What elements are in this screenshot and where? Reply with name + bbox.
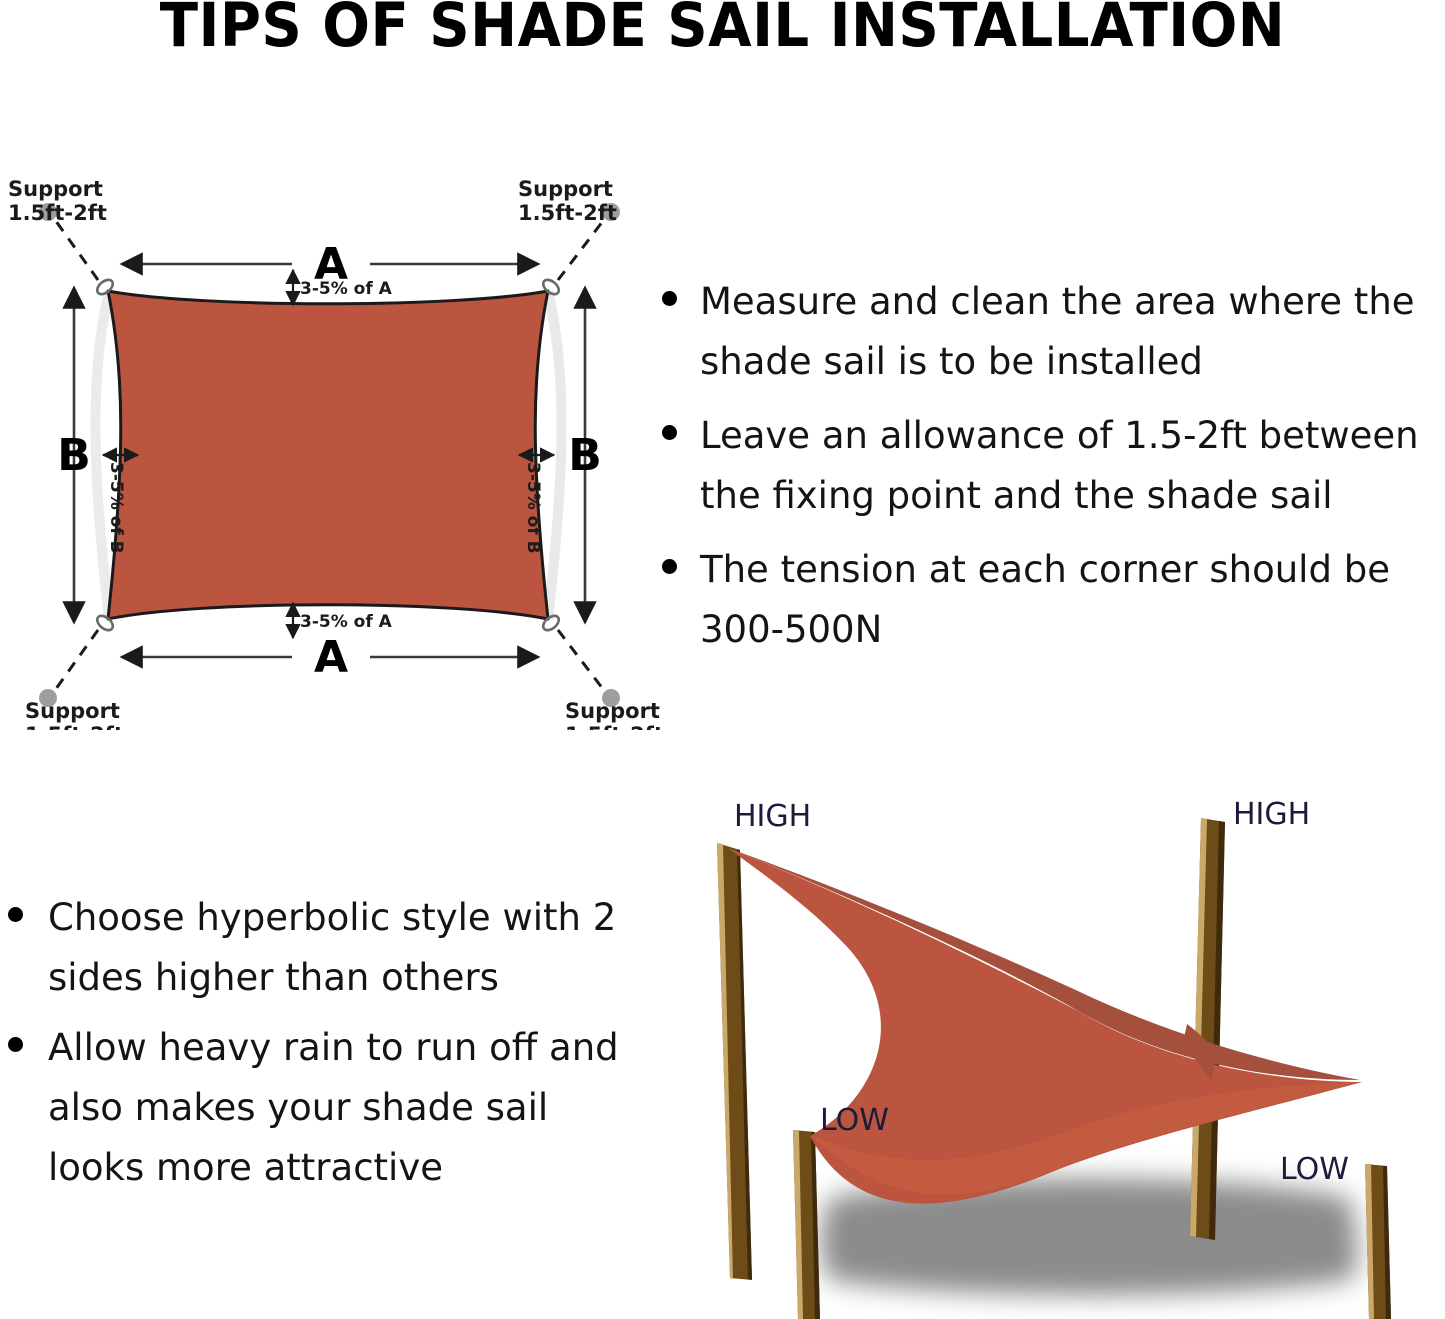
label-low-right: LOW bbox=[1280, 1152, 1349, 1187]
support-label-top-right: Support 1.5ft-2ft bbox=[518, 177, 617, 225]
support-tether bbox=[53, 217, 98, 280]
dimension-a-label: A bbox=[314, 632, 348, 683]
support-label-bottom-left: Support 1.5ft-2ft bbox=[25, 699, 124, 730]
support-label-line1: Support bbox=[25, 699, 120, 723]
support-label-line1: Support bbox=[8, 177, 103, 201]
list-item: The tension at each corner should be 300… bbox=[648, 540, 1445, 660]
list-item: Allow heavy rain to run off and also mak… bbox=[0, 1018, 625, 1198]
support-label-line2: 1.5ft-2ft bbox=[518, 201, 617, 225]
dimension-a-bottom: A bbox=[122, 632, 538, 683]
pole-low-left bbox=[793, 1130, 820, 1319]
label-low-left: LOW bbox=[820, 1103, 889, 1138]
sag-a-top-label: 3-5% of A bbox=[300, 279, 393, 299]
tips-list-right: Measure and clean the area where the sha… bbox=[648, 272, 1445, 674]
tip-text: Allow heavy rain to run off and also mak… bbox=[48, 1018, 625, 1198]
list-item: Leave an allowance of 1.5-2ft between th… bbox=[648, 406, 1445, 526]
list-item: Choose hyperbolic style with 2 sides hig… bbox=[0, 888, 625, 1008]
support-label-line2: 1.5ft-2ft bbox=[8, 201, 107, 225]
support-label-top-left: Support 1.5ft-2ft bbox=[8, 177, 107, 225]
sag-a-bottom-label: 3-5% of A bbox=[300, 612, 393, 632]
sag-b-right-label: 3-5% of B bbox=[523, 462, 543, 554]
pole-high-left bbox=[717, 843, 752, 1280]
label-high-left: HIGH bbox=[734, 799, 811, 834]
support-tether bbox=[558, 630, 606, 693]
support-label-line1: Support bbox=[518, 177, 613, 201]
sail-shape bbox=[108, 291, 548, 619]
pole-low-right bbox=[1365, 1164, 1391, 1319]
support-tether bbox=[53, 630, 98, 693]
tip-text: Choose hyperbolic style with 2 sides hig… bbox=[48, 888, 625, 1008]
tip-text: Measure and clean the area where the sha… bbox=[700, 272, 1445, 392]
support-label-line2: 1.5ft-2ft bbox=[565, 723, 660, 730]
support-tether bbox=[558, 217, 606, 280]
page-title: TIPS OF SHADE SAIL INSTALLATION bbox=[58, 0, 1387, 58]
rectangular-sail-diagram: A 3-5% of A A 3-5% of A B 3-5% of B bbox=[0, 160, 660, 730]
support-label-bottom-right: Support 1.5ft-2ft bbox=[565, 699, 660, 730]
dimension-b-label: B bbox=[568, 430, 602, 481]
tip-text: Leave an allowance of 1.5-2ft between th… bbox=[700, 406, 1445, 526]
dimension-b-label: B bbox=[57, 430, 91, 481]
tips-list-left: Choose hyperbolic style with 2 sides hig… bbox=[0, 888, 625, 1208]
sag-b-left-label: 3-5% of B bbox=[106, 462, 126, 554]
label-high-right: HIGH bbox=[1233, 797, 1310, 832]
tip-text: The tension at each corner should be 300… bbox=[700, 540, 1445, 660]
support-label-line2: 1.5ft-2ft bbox=[25, 723, 124, 730]
hyperbolic-sail-diagram: HIGH HIGH LOW LOW bbox=[660, 780, 1445, 1319]
list-item: Measure and clean the area where the sha… bbox=[648, 272, 1445, 392]
support-label-line1: Support bbox=[565, 699, 660, 723]
pole-high-right bbox=[1190, 818, 1225, 1240]
